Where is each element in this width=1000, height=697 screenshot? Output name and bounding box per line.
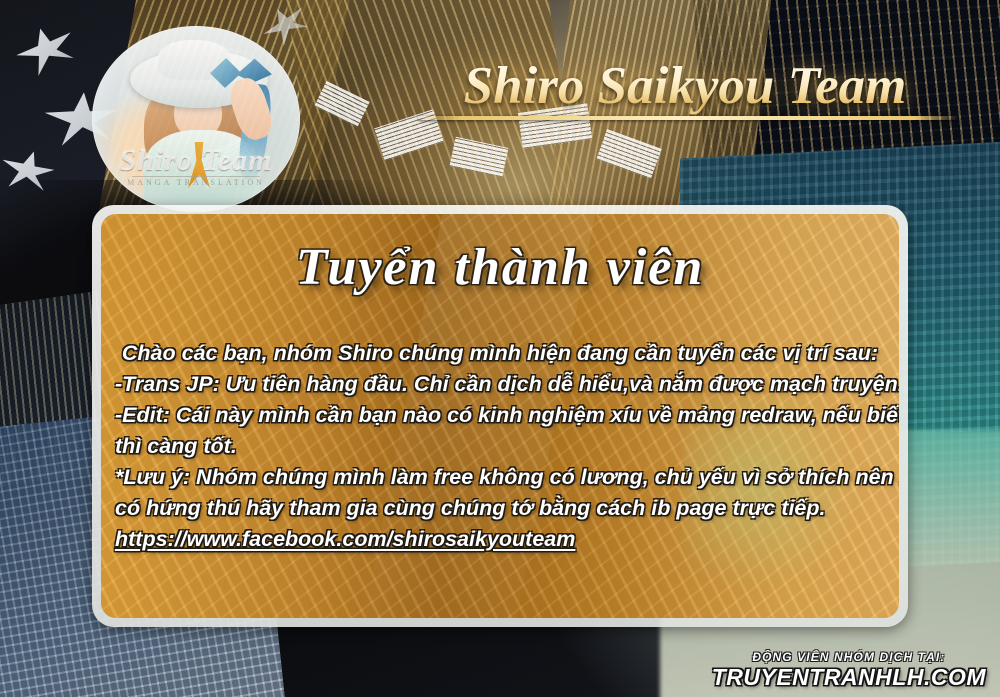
- recruitment-panel: Tuyển thành viên Chào các bạn, nhóm Shir…: [92, 205, 908, 627]
- watermark-site: TRUYENTRANHLH.COM: [712, 665, 986, 689]
- team-logo: Shiro Team MANGA TRANSLATION: [92, 26, 300, 212]
- body-line-intro: Chào các bạn, nhóm Shiro chúng mình hiện…: [115, 338, 885, 369]
- body-line-trans-jp: -Trans JP: Ưu tiên hàng đầu. Chỉ cần dịc…: [115, 369, 885, 400]
- body-line-edit: -Edit: Cái này mình cần bạn nào có kinh …: [115, 400, 885, 431]
- facebook-link[interactable]: https://www.facebook.com/shirosaikyoutea…: [115, 524, 885, 555]
- body-line-note: *Lưu ý: Nhóm chúng mình làm free không c…: [115, 462, 885, 493]
- body-line-edit-cont: thì càng tốt.: [115, 431, 885, 462]
- panel-heading: Tuyển thành viên: [101, 238, 899, 297]
- panel-inner: Tuyển thành viên Chào các bạn, nhóm Shir…: [101, 214, 899, 618]
- recruitment-poster: Shiro Team MANGA TRANSLATION Shiro Saiky…: [0, 0, 1000, 697]
- title-underline: [418, 116, 958, 120]
- page-title: Shiro Saikyou Team: [400, 52, 970, 122]
- logo-ring-border: [92, 26, 300, 212]
- body-line-note-cont: có hứng thú hãy tham gia cùng chúng tớ b…: [115, 493, 885, 524]
- site-watermark: ĐỘNG VIÊN NHÓM DỊCH TẠI: TRUYENTRANHLH.C…: [712, 651, 986, 689]
- watermark-caption: ĐỘNG VIÊN NHÓM DỊCH TẠI:: [712, 651, 986, 664]
- panel-body-text: Chào các bạn, nhóm Shiro chúng mình hiện…: [115, 338, 885, 555]
